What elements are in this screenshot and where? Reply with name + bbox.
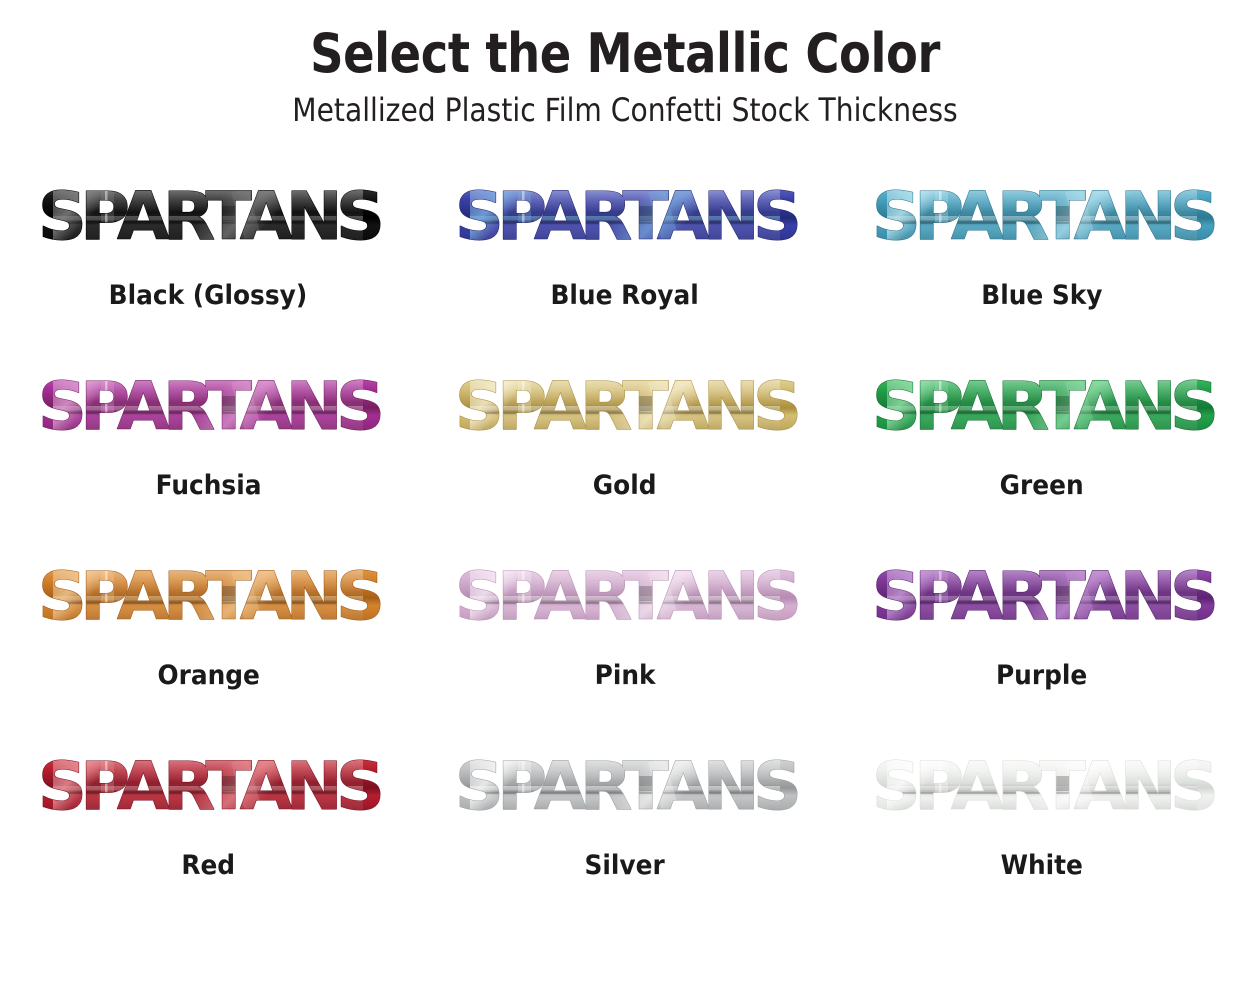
color-swatch-blue-sky[interactable]: SPARTANSSPARTANSBlue Sky xyxy=(842,162,1242,352)
color-swatch-pink[interactable]: SPARTANSSPARTANSPink xyxy=(425,542,825,732)
word-art-metallic-sheen xyxy=(470,750,780,832)
word-art-container[interactable]: SPARTANSSPARTANS xyxy=(877,352,1207,470)
color-name-label: Purple xyxy=(996,662,1087,689)
word-art-metallic-sheen xyxy=(887,560,1197,642)
color-swatch-green[interactable]: SPARTANSSPARTANSGreen xyxy=(842,352,1242,542)
page-header: Select the Metallic Color Metallized Pla… xyxy=(0,0,1250,128)
spartans-word-art: SPARTANSSPARTANS xyxy=(887,180,1197,262)
color-swatch-white[interactable]: SPARTANSSPARTANSWhite xyxy=(842,732,1242,922)
color-name-label: Blue Sky xyxy=(981,282,1102,309)
color-swatch-grid: SPARTANSSPARTANSBlack (Glossy)SPARTANSSP… xyxy=(0,162,1250,922)
color-name-label: Green xyxy=(1000,472,1084,499)
page-subtitle: Metallized Plastic Film Confetti Stock T… xyxy=(75,93,1175,128)
word-art-container[interactable]: SPARTANSSPARTANS xyxy=(460,162,790,280)
color-name-label: Red xyxy=(181,852,235,879)
spartans-word-art: SPARTANSSPARTANS xyxy=(887,750,1197,832)
color-name-label: Gold xyxy=(593,472,657,499)
spartans-word-art: SPARTANSSPARTANS xyxy=(53,750,363,832)
word-art-metallic-sheen xyxy=(887,370,1197,452)
spartans-word-art: SPARTANSSPARTANS xyxy=(53,180,363,262)
color-swatch-orange[interactable]: SPARTANSSPARTANSOrange xyxy=(8,542,408,732)
word-art-container[interactable]: SPARTANSSPARTANS xyxy=(877,162,1207,280)
color-name-label: Orange xyxy=(157,662,259,689)
word-art-container[interactable]: SPARTANSSPARTANS xyxy=(460,352,790,470)
color-swatch-fuchsia[interactable]: SPARTANSSPARTANSFuchsia xyxy=(8,352,408,542)
word-art-container[interactable]: SPARTANSSPARTANS xyxy=(460,542,790,660)
spartans-word-art: SPARTANSSPARTANS xyxy=(53,370,363,452)
color-name-label: White xyxy=(1000,852,1082,879)
color-name-label: Blue Royal xyxy=(551,282,699,309)
word-art-metallic-sheen xyxy=(53,370,363,452)
color-selector-page: Select the Metallic Color Metallized Pla… xyxy=(0,0,1250,1000)
color-swatch-purple[interactable]: SPARTANSSPARTANSPurple xyxy=(842,542,1242,732)
color-swatch-blue-royal[interactable]: SPARTANSSPARTANSBlue Royal xyxy=(425,162,825,352)
spartans-word-art: SPARTANSSPARTANS xyxy=(53,560,363,642)
color-swatch-silver[interactable]: SPARTANSSPARTANSSilver xyxy=(425,732,825,922)
word-art-metallic-sheen xyxy=(470,560,780,642)
color-swatch-black-glossy[interactable]: SPARTANSSPARTANSBlack (Glossy) xyxy=(8,162,408,352)
color-name-label: Fuchsia xyxy=(155,472,261,499)
word-art-metallic-sheen xyxy=(887,750,1197,832)
word-art-metallic-sheen xyxy=(470,370,780,452)
color-name-label: Black (Glossy) xyxy=(109,282,308,309)
word-art-metallic-sheen xyxy=(53,180,363,262)
color-swatch-gold[interactable]: SPARTANSSPARTANSGold xyxy=(425,352,825,542)
word-art-metallic-sheen xyxy=(53,750,363,832)
word-art-container[interactable]: SPARTANSSPARTANS xyxy=(43,352,373,470)
word-art-container[interactable]: SPARTANSSPARTANS xyxy=(877,542,1207,660)
spartans-word-art: SPARTANSSPARTANS xyxy=(470,560,780,642)
spartans-word-art: SPARTANSSPARTANS xyxy=(887,370,1197,452)
color-swatch-red[interactable]: SPARTANSSPARTANSRed xyxy=(8,732,408,922)
word-art-container[interactable]: SPARTANSSPARTANS xyxy=(43,732,373,850)
spartans-word-art: SPARTANSSPARTANS xyxy=(470,750,780,832)
word-art-metallic-sheen xyxy=(470,180,780,262)
word-art-container[interactable]: SPARTANSSPARTANS xyxy=(460,732,790,850)
page-title: Select the Metallic Color xyxy=(88,26,1163,83)
word-art-container[interactable]: SPARTANSSPARTANS xyxy=(877,732,1207,850)
color-name-label: Pink xyxy=(595,662,656,689)
word-art-container[interactable]: SPARTANSSPARTANS xyxy=(43,162,373,280)
spartans-word-art: SPARTANSSPARTANS xyxy=(470,370,780,452)
color-name-label: Silver xyxy=(585,852,665,879)
spartans-word-art: SPARTANSSPARTANS xyxy=(887,560,1197,642)
word-art-metallic-sheen xyxy=(53,560,363,642)
word-art-container[interactable]: SPARTANSSPARTANS xyxy=(43,542,373,660)
spartans-word-art: SPARTANSSPARTANS xyxy=(470,180,780,262)
word-art-metallic-sheen xyxy=(887,180,1197,262)
